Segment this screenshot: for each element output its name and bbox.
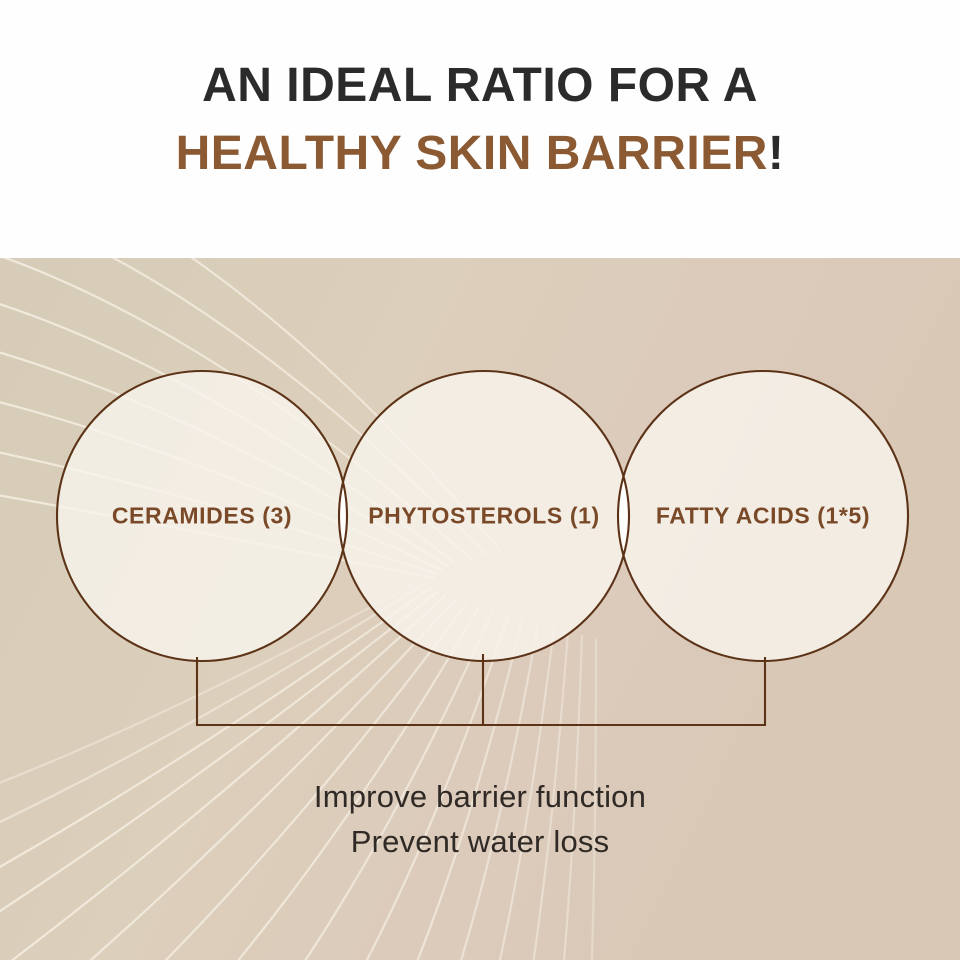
headline-line-2-main: HEALTHY SKIN BARRIER	[176, 127, 768, 180]
venn-label-ceramides: CERAMIDES (3)	[112, 503, 292, 530]
header-banner: AN IDEAL RATIO FOR A HEALTHY SKIN BARRIE…	[0, 0, 960, 258]
venn-label-fatty-acids: FATTY ACIDS (1*5)	[656, 503, 870, 530]
caption-line-2: Prevent water loss	[0, 826, 960, 857]
infographic-page: AN IDEAL RATIO FOR A HEALTHY SKIN BARRIE…	[0, 0, 960, 960]
headline-line-1: AN IDEAL RATIO FOR A	[202, 62, 758, 110]
caption-line-1: Improve barrier function	[0, 781, 960, 812]
headline-line-2: HEALTHY SKIN BARRIER!	[176, 130, 785, 178]
headline-exclamation: !	[768, 127, 784, 180]
venn-label-phytosterols: PHYTOSTEROLS (1)	[368, 503, 600, 530]
diagram-panel: CERAMIDES (3) PHYTOSTEROLS (1) FATTY ACI…	[0, 258, 960, 960]
bracket-connector	[197, 655, 765, 725]
